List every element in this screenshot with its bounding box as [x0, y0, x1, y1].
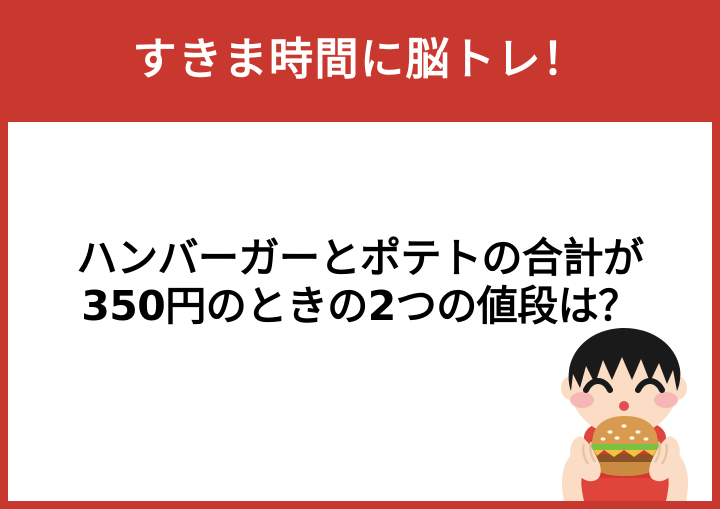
content-panel: ハンバーガーとポテトの合計が 350円のときの2つの値段は？	[8, 122, 712, 501]
brain-training-quiz-card: すきま時間に脳トレ！ ハンバーガーとポテトの合計が 350円のときの2つの値段は…	[0, 0, 720, 509]
boy-eating-hamburger-illustration	[540, 326, 710, 501]
question-line-2: 350円のときの2つの値段は？	[8, 283, 712, 331]
bottom-red-bar	[0, 501, 720, 509]
question-block: ハンバーガーとポテトの合計が 350円のときの2つの値段は？	[8, 122, 712, 330]
header-band: すきま時間に脳トレ！	[0, 0, 720, 120]
question-line-1: ハンバーガーとポテトの合計が	[8, 235, 712, 283]
page-title: すきま時間に脳トレ！	[133, 38, 588, 82]
